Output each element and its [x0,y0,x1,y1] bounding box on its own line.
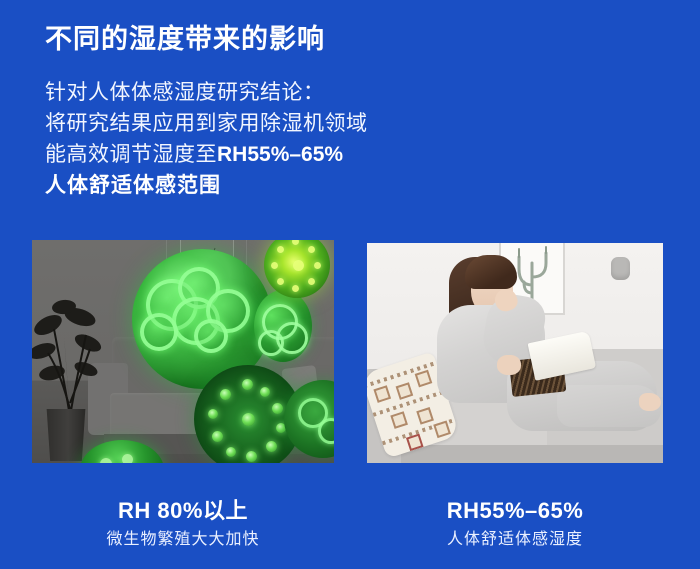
intro-line-3-prefix: 能高效调节湿度至 [45,143,217,166]
microbe-nub [122,454,133,463]
photo-comfort-humidity [367,243,663,463]
microbe-nub [212,431,223,442]
microbe-nub [100,458,112,463]
intro-line-3-emphasis: RH55%–65% [217,143,343,166]
dark-room-scene [32,240,334,463]
microbe-ring [318,418,334,444]
plant-pot [44,409,88,461]
intro-line-2: 将研究结果应用到家用除湿机领域 [45,108,475,139]
poster-root: 不同的湿度带来的影响 针对人体体感湿度研究结论： 将研究结果应用到家用除湿机领域… [0,0,700,569]
microbe-ring [258,330,284,356]
intro-line-1: 针对人体体感湿度研究结论： [45,77,475,108]
caption-subtitle: 人体舒适体感湿度 [367,530,663,550]
microbe-core [293,260,304,271]
microbe-nub [272,403,283,414]
microbe-cell [194,319,228,353]
microbe-spike [308,278,315,285]
microbe-spike [277,278,284,285]
microbe-core [242,413,255,426]
caption-title: RH 80%以上 [32,498,334,524]
caption-comfort-humidity: RH55%–65% 人体舒适体感湿度 [367,498,663,550]
microbe-cell [140,313,178,351]
microbe-nub [220,389,231,400]
microbe-spike [277,246,284,253]
microbe-nub [266,441,277,452]
caption-title: RH55%–65% [367,498,663,524]
bright-room-scene [367,243,663,463]
hand-holding-book [497,355,521,375]
microbe-nub [208,409,218,419]
photo-high-humidity [32,240,334,463]
microbe-spike [271,262,278,269]
microbe-nub [260,387,270,397]
intro-paragraph: 针对人体体感湿度研究结论： 将研究结果应用到家用除湿机领域 能高效调节湿度至RH… [45,77,475,201]
foot [639,393,661,411]
microbe-spike [308,246,315,253]
intro-line-3: 能高效调节湿度至RH55%–65% [45,139,475,170]
microbe-spike [292,285,299,292]
potted-plant [34,301,112,461]
woman-reading [367,243,663,463]
microbe-sphere-edge-icon [254,290,312,362]
microbe-spike [292,240,299,245]
microbe-nub [242,379,253,390]
plant-leaves-icon [32,299,110,417]
page-title: 不同的湿度带来的影响 [45,17,325,56]
microbe-spike [314,262,321,269]
microbe-nub [226,447,236,457]
intro-line-4: 人体舒适体感范围 [45,170,475,201]
microbe-nub [246,451,257,462]
caption-subtitle: 微生物繁殖大大加快 [32,530,334,550]
hair-top [465,255,517,289]
caption-high-humidity: RH 80%以上 微生物繁殖大大加快 [32,498,334,550]
